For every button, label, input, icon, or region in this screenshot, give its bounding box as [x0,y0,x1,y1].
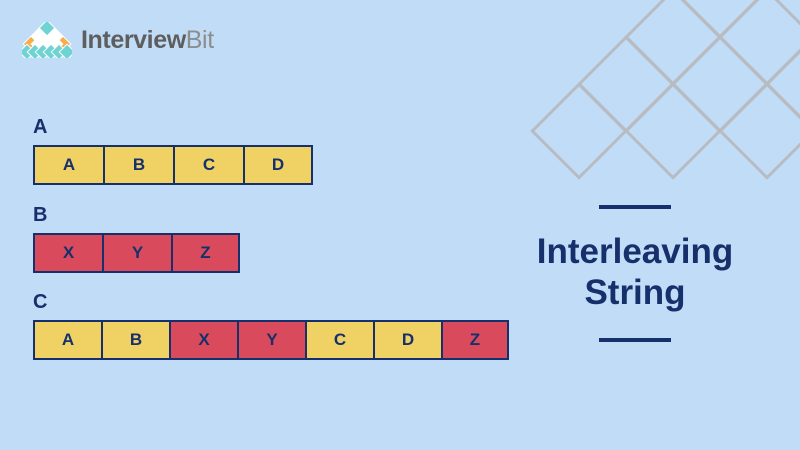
logo-wordmark-light: Bit [186,26,214,54]
interviewbit-logo[interactable]: InterviewBit [22,22,214,58]
array-label-c: C [33,292,509,312]
array-cells-a: A B C D [33,145,313,185]
array-block-a: A A B C D [33,117,313,185]
page-title: Interleaving String [537,231,733,314]
array-cell: B [101,320,169,360]
array-label-b: B [33,205,240,225]
title-rule-top [599,205,671,209]
array-cell: Z [171,233,240,273]
array-cell: Y [237,320,305,360]
array-cell: D [373,320,441,360]
array-cell: A [33,320,101,360]
diamond-lattice-decoration [520,0,800,240]
array-block-b: B X Y Z [33,205,240,273]
logo-wordmark-bold: Interview [81,26,186,54]
array-cell: Y [102,233,171,273]
array-cell: C [173,145,243,185]
title-rule-bottom [599,338,671,342]
array-cell: C [305,320,373,360]
logo-wordmark: InterviewBit [81,28,214,53]
array-cell: X [33,233,102,273]
interviewbit-diamond-logo-icon [22,22,72,58]
array-cell: A [33,145,103,185]
array-cell: X [169,320,237,360]
slide-canvas: InterviewBit A A B C D B X Y Z C A B X Y… [0,0,800,450]
title-block: Interleaving String [500,205,770,342]
array-cell: B [103,145,173,185]
array-cells-b: X Y Z [33,233,240,273]
array-block-c: C A B X Y C D Z [33,292,509,360]
array-cell: Z [441,320,509,360]
array-cell: D [243,145,313,185]
array-label-a: A [33,117,313,137]
array-cells-c: A B X Y C D Z [33,320,509,360]
